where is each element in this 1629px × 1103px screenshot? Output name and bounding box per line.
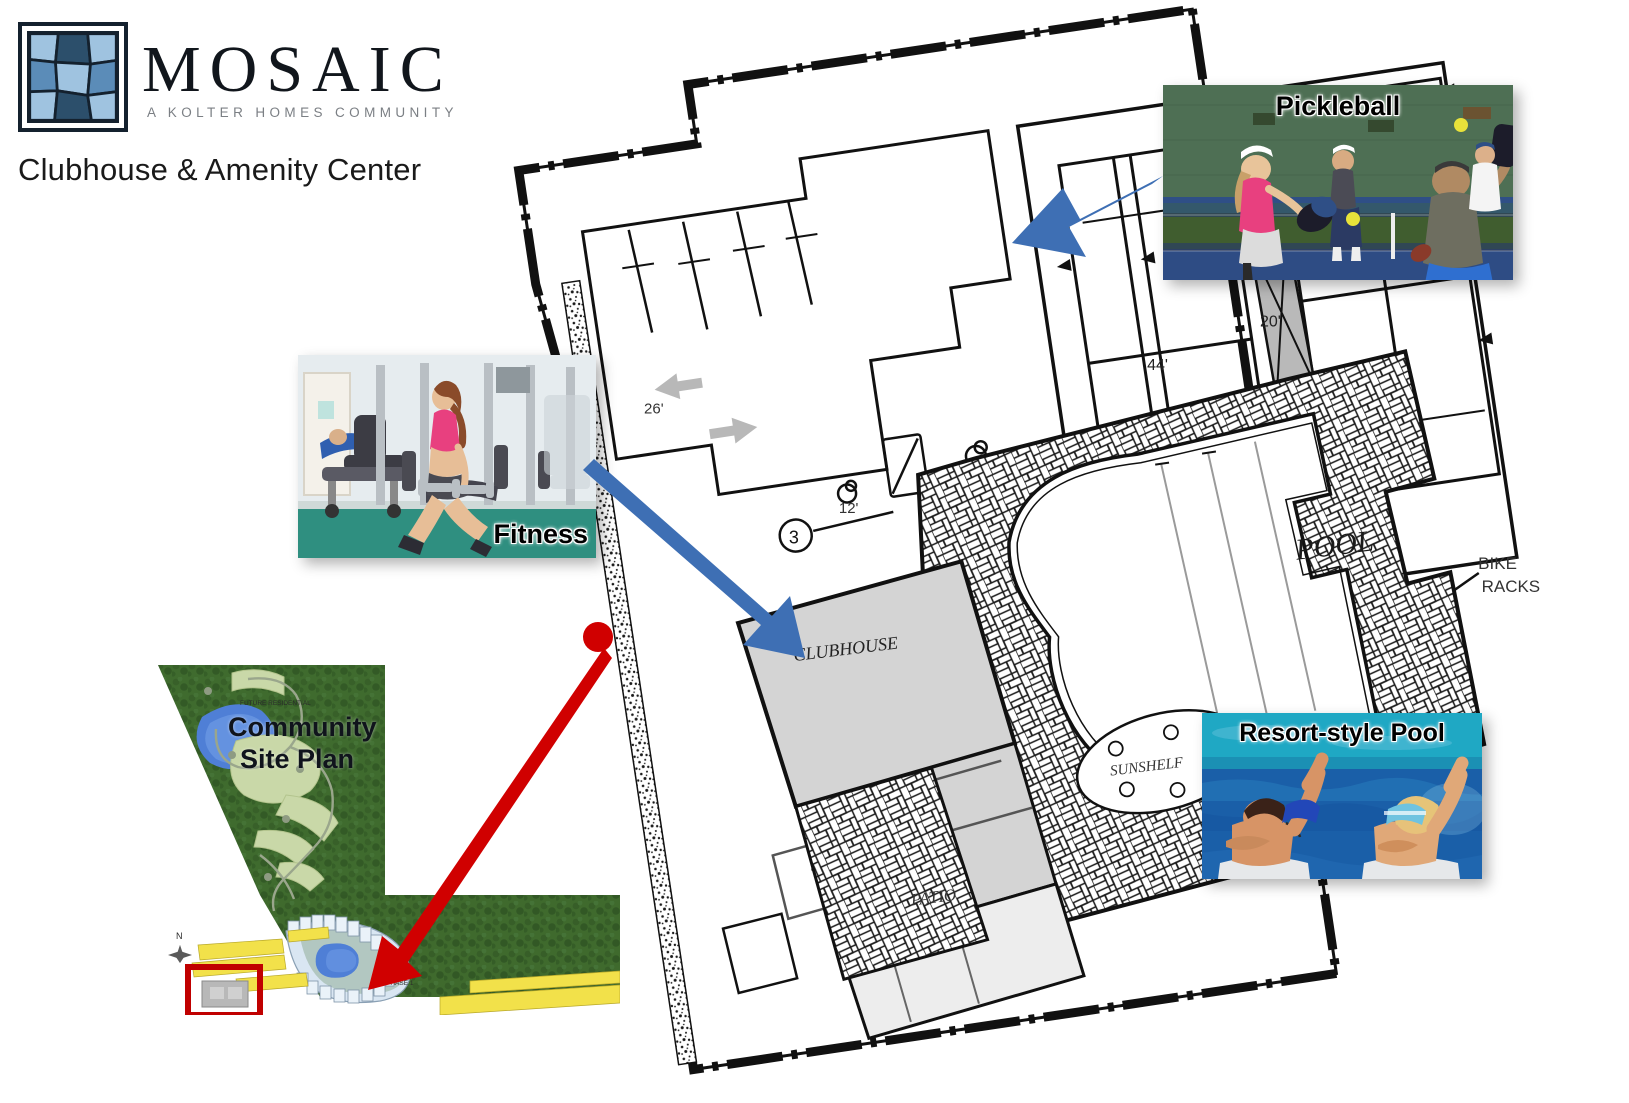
brand-tagline: A KOLTER HOMES COMMUNITY [142, 105, 458, 120]
compass-icon: N [168, 931, 192, 963]
amenity-center-slide: 26' 12' 5' 2' OH 3 [0, 0, 1629, 1103]
brand-name: MOSAIC [142, 38, 458, 101]
resort-pool-photo: Resort-style Pool [1202, 713, 1482, 879]
site-plan-future-label: FUTURE RESIDENTIAL [240, 700, 311, 707]
svg-text:N: N [176, 931, 183, 941]
pool-caption: Resort-style Pool [1239, 719, 1445, 748]
site-plan-phase-label: PHASE 1 [386, 980, 414, 987]
community-site-plan: FUTURE RESIDENTIAL [140, 645, 620, 1015]
pickleball-caption: Pickleball [1276, 91, 1401, 122]
svg-text:26': 26' [644, 401, 664, 418]
svg-text:44': 44' [1147, 357, 1168, 374]
site-plan-title-line2: Site Plan [240, 745, 354, 774]
fitness-photo: Fitness [298, 355, 596, 558]
pickleball-photo: Pickleball [1163, 85, 1513, 280]
svg-text:3: 3 [789, 528, 799, 548]
svg-text:BIKE: BIKE [1478, 554, 1517, 573]
site-plan-title-line1: Community [228, 713, 377, 742]
page-title: Clubhouse & Amenity Center [18, 152, 468, 188]
brand-block: MOSAIC A KOLTER HOMES COMMUNITY Clubhous… [18, 22, 468, 188]
fitness-caption: Fitness [493, 519, 588, 550]
svg-text:20': 20' [1260, 314, 1281, 331]
mosaic-tile-logo-icon [18, 22, 128, 132]
svg-text:RACKS: RACKS [1482, 577, 1541, 596]
traffic-arrows [653, 363, 759, 454]
